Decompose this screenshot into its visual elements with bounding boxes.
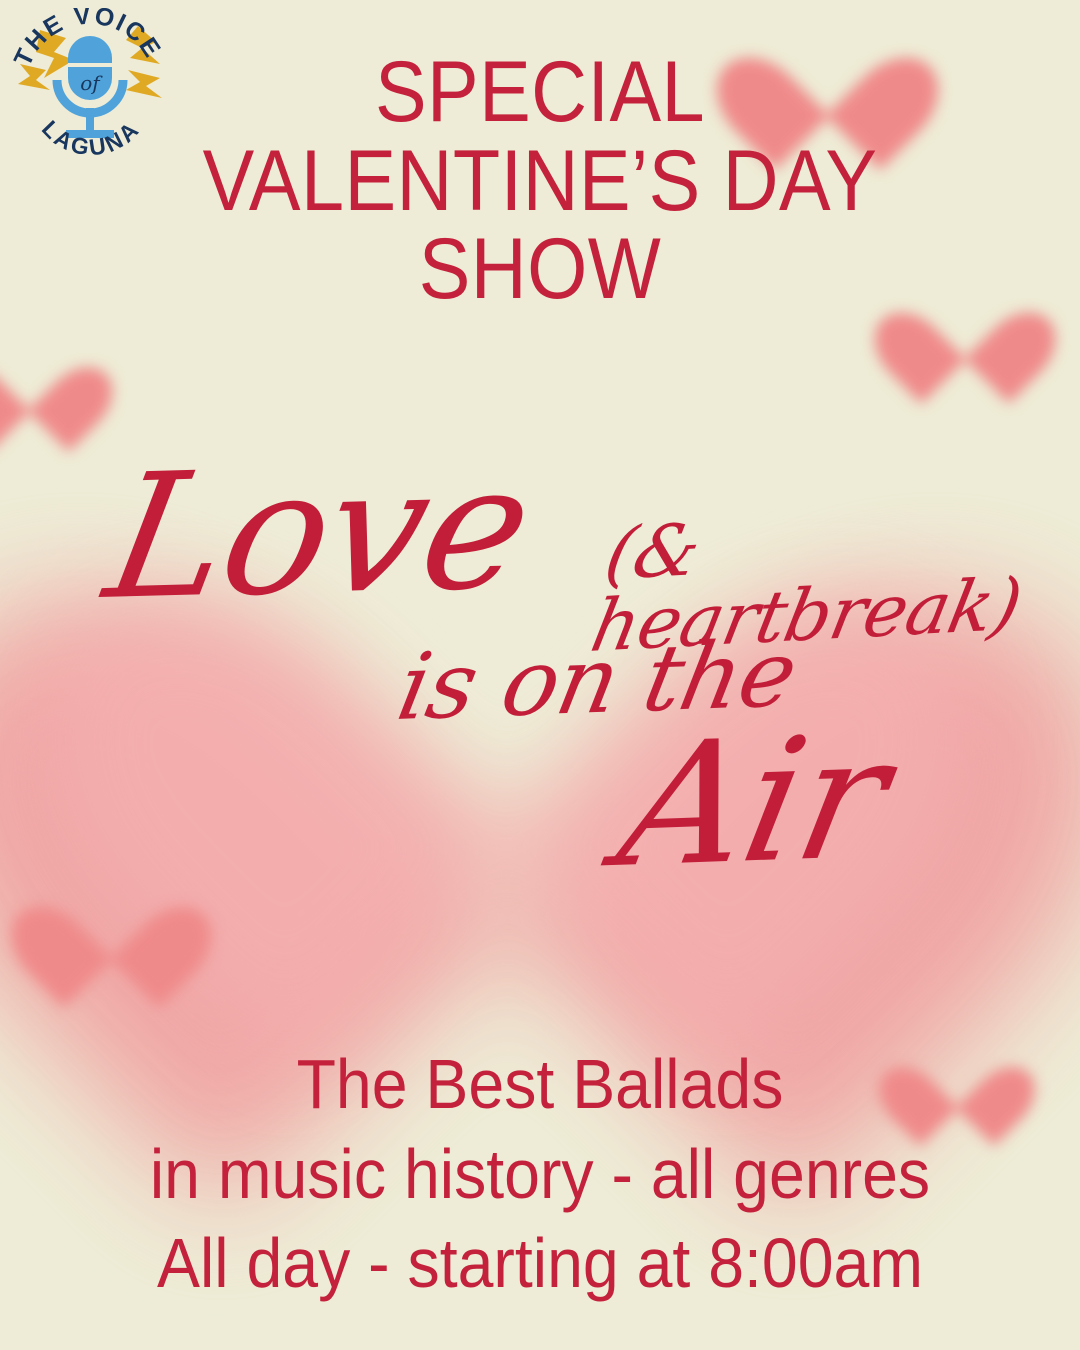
- headline-line-3: SHOW: [54, 225, 1026, 314]
- script-word-air: Air: [608, 713, 899, 892]
- decor-heart-left-edge: [0, 330, 84, 426]
- bottom-copy: The Best Ballads in music history - all …: [43, 1040, 1037, 1309]
- bottom-copy-line-3: All day - starting at 8:00am: [43, 1219, 1037, 1309]
- script-word-love: Love: [96, 441, 543, 624]
- headline-line-2: VALENTINE’S DAY: [54, 137, 1026, 226]
- headline-line-1: SPECIAL: [54, 48, 1026, 137]
- valentines-show-poster: of THE VOICE LAGUNA SPECIAL VALENTINE’S …: [0, 0, 1080, 1350]
- bottom-copy-line-1: The Best Ballads: [43, 1040, 1037, 1130]
- bottom-copy-line-2: in music history - all genres: [43, 1130, 1037, 1220]
- script-tagline: Love (& heartbreak) is on the Air: [0, 430, 1080, 990]
- headline: SPECIAL VALENTINE’S DAY SHOW: [54, 48, 1026, 314]
